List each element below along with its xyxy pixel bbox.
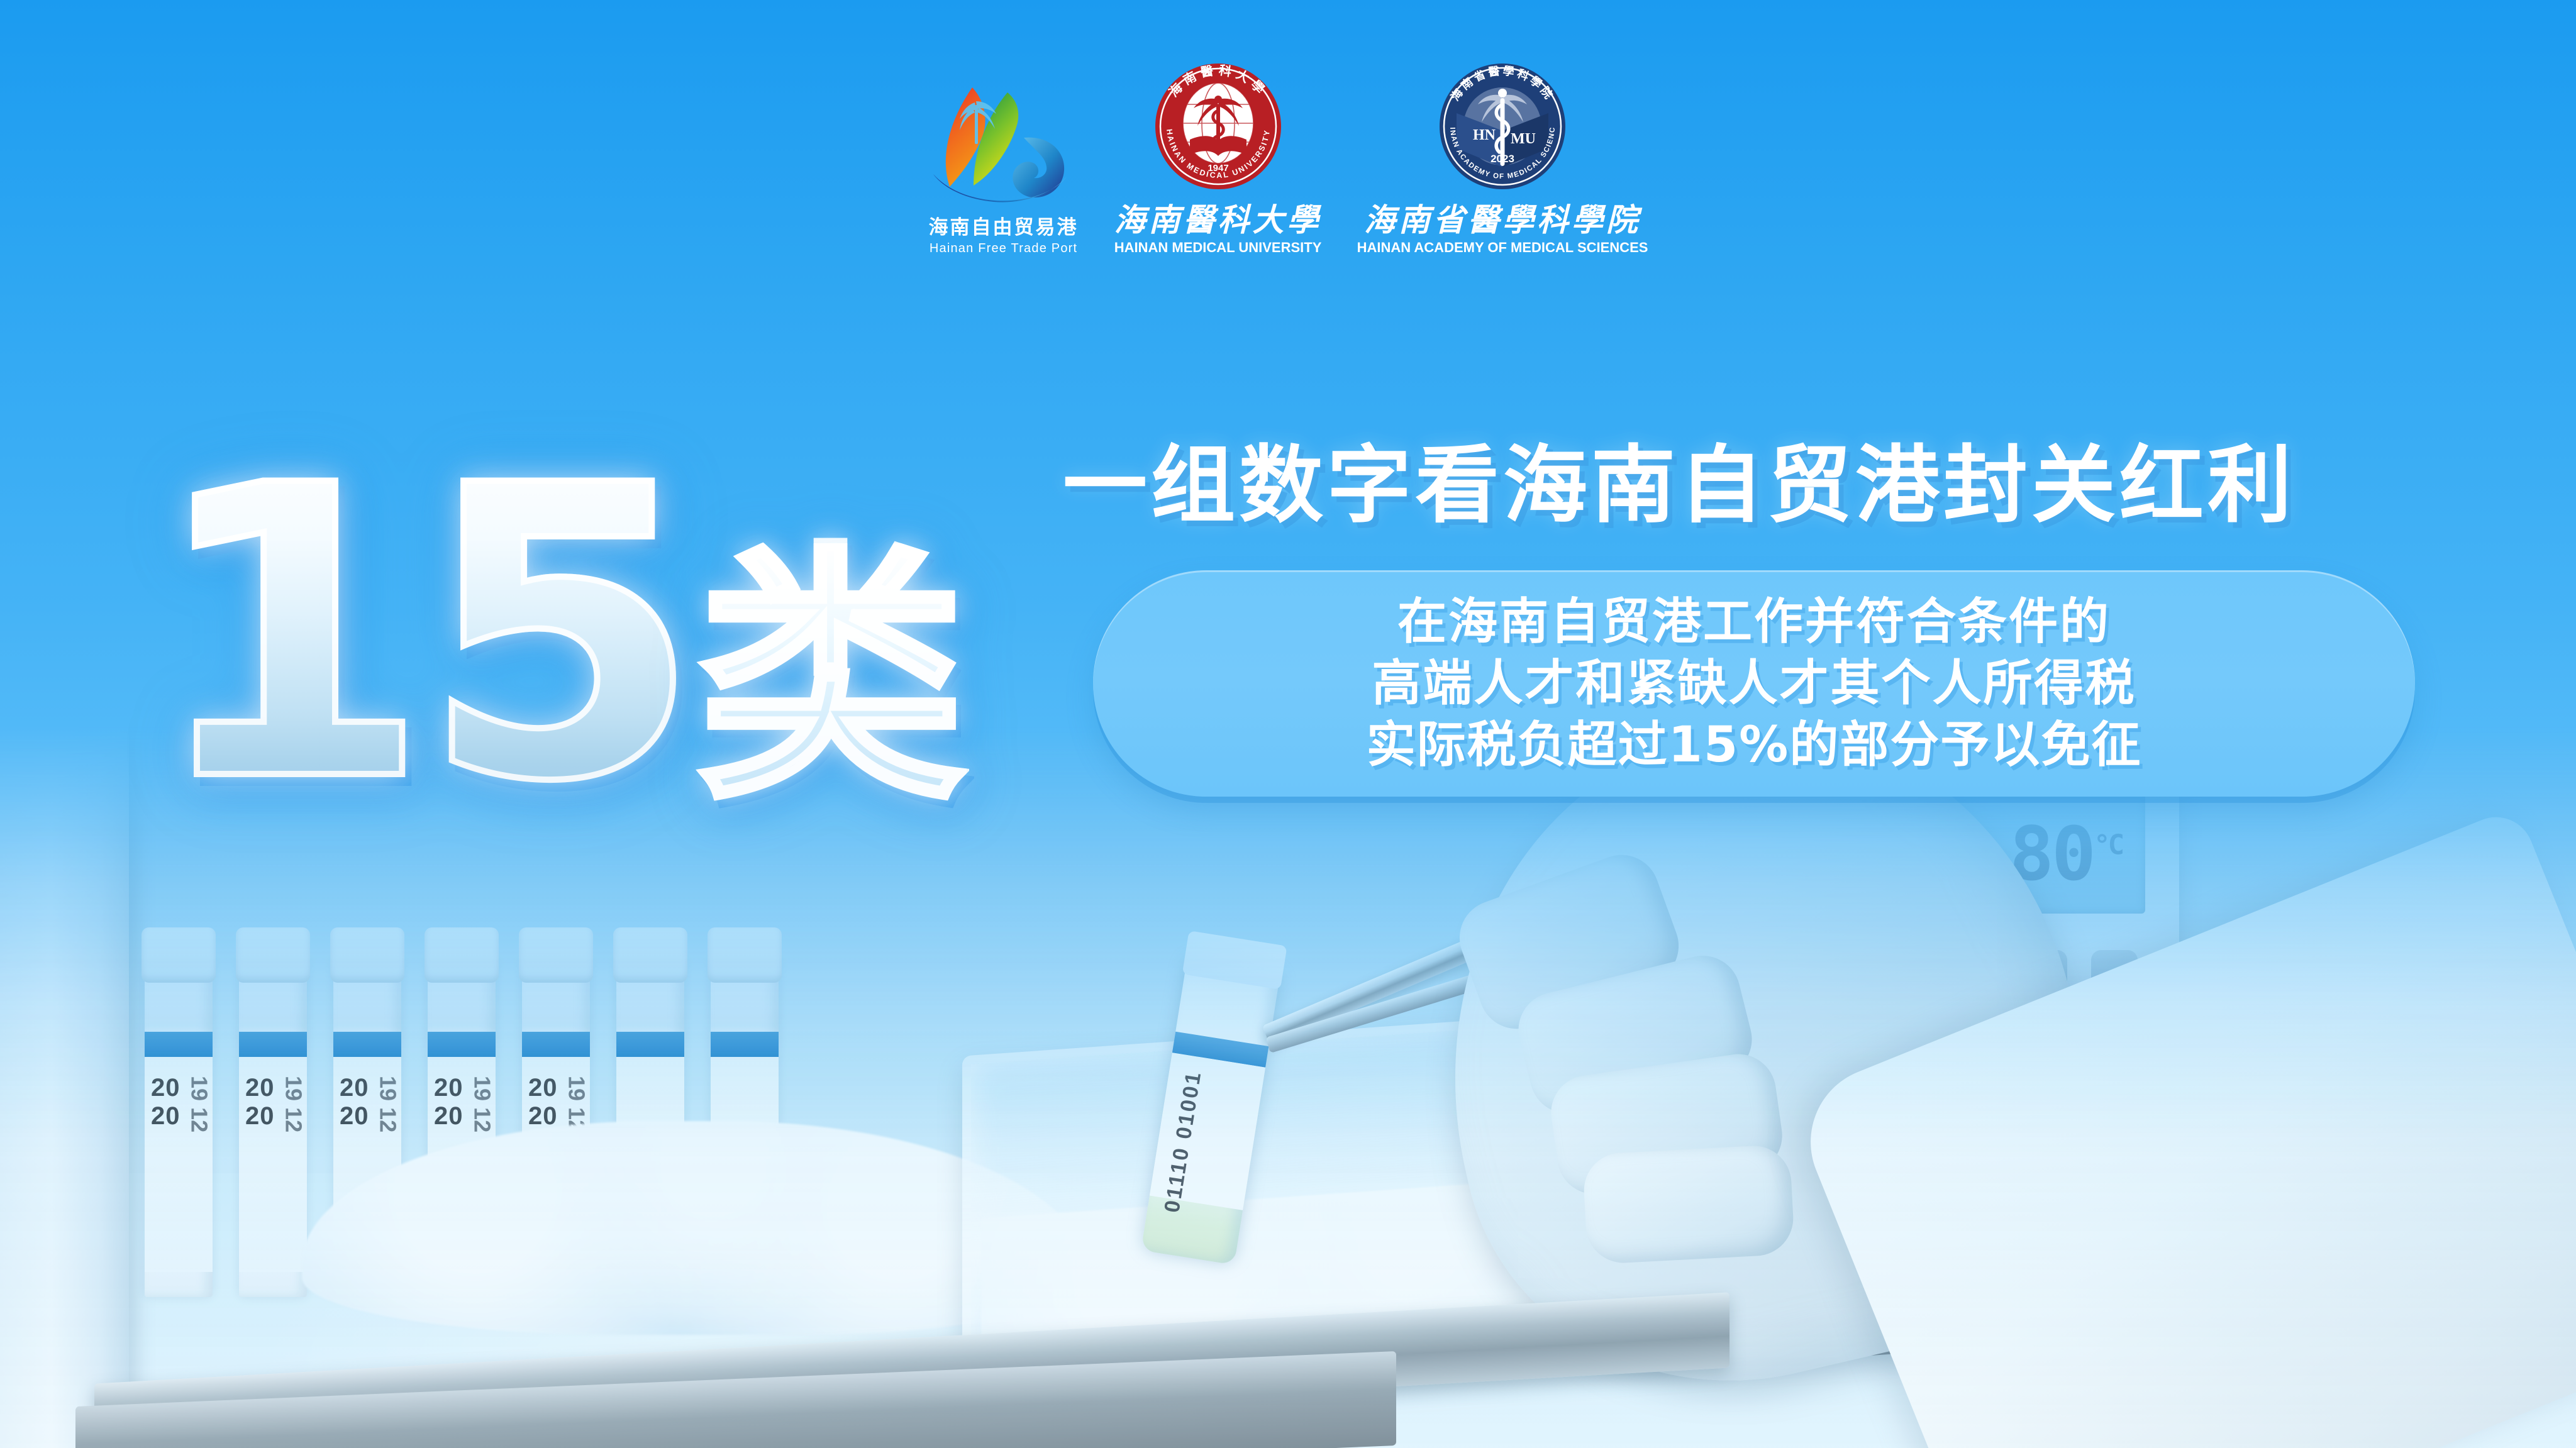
policy-line-3: 实际税负超过15%的部分予以免征 xyxy=(1367,716,2142,774)
policy-line-1: 在海南自贸港工作并符合条件的 xyxy=(1397,593,2111,651)
sail-wave-palm-icon xyxy=(928,80,1079,209)
vial-cap xyxy=(613,927,687,983)
vial-label xyxy=(145,1057,213,1272)
gloved-finger xyxy=(1546,1049,1787,1199)
temperature-unit: °C xyxy=(2094,829,2122,861)
gloved-finger xyxy=(1511,948,1760,1121)
vial-code: 2020 xyxy=(340,1074,369,1130)
lab-bench xyxy=(1758,1118,2576,1364)
vial-code-vertical: 19 12 xyxy=(469,1076,494,1132)
cryovial: 202019 12 xyxy=(428,958,496,1297)
drawer-rail-lower xyxy=(75,1351,1396,1448)
policy-bubble: 在海南自贸港工作并符合条件的 高端人才和紧缺人才其个人所得税 实际税负超过15%… xyxy=(1093,570,2415,797)
held-vial-cap xyxy=(1182,931,1287,990)
vial-code-vertical: 19 12 xyxy=(563,1076,589,1132)
cryovial xyxy=(616,958,684,1297)
freezer-control-panel: -80°C xyxy=(1915,769,2179,1071)
vial-cap xyxy=(708,927,782,983)
vial-cap xyxy=(519,927,593,983)
logo-hainan-medical-university: 1947 HAINAN MEDICAL UNIVERSITY 海南醫科大學 海南… xyxy=(1114,60,1322,255)
logo-bar: 海南自由贸易港 Hainan Free Trade Port xyxy=(0,60,2576,255)
vial-label xyxy=(239,1057,307,1272)
vial-band xyxy=(428,1032,496,1057)
vial-label xyxy=(522,1057,590,1272)
vial-cap xyxy=(236,927,310,983)
vial-label xyxy=(711,1057,779,1272)
vial-code: 2020 xyxy=(245,1074,275,1130)
svg-text:HN: HN xyxy=(1473,127,1496,143)
vial-code: 2020 xyxy=(151,1074,180,1130)
tweezers-upper-arm xyxy=(1262,844,1699,1046)
vial-code-vertical: 19 12 xyxy=(375,1076,400,1132)
cryovial: 202019 12 xyxy=(239,958,307,1297)
right-content: 一组数字看海南自贸港封关红利 在海南自贸港工作并符合条件的 高端人才和紧缺人才其… xyxy=(1063,440,2509,797)
logo-hainan-academy-of-medical-sciences: HN MU 2023 HAINAN ACADEMY OF MEDICAL SCI… xyxy=(1357,60,1648,255)
vial-band xyxy=(239,1032,307,1057)
vial-band xyxy=(333,1032,401,1057)
svg-text:2023: 2023 xyxy=(1491,153,1514,165)
vial-cap xyxy=(330,927,404,983)
temperature-value: -80°C xyxy=(1967,817,2122,891)
big-number-block: 15 类 xyxy=(150,434,967,836)
ice-tray xyxy=(962,985,1981,1408)
vial-band xyxy=(616,1032,684,1057)
held-vial-code: 01110 01001 xyxy=(1161,1069,1204,1213)
navy-circular-emblem-icon: HN MU 2023 HAINAN ACADEMY OF MEDICAL SCI… xyxy=(1436,60,1568,196)
logo-hainan-free-trade-port: 海南自由贸易港 Hainan Free Trade Port xyxy=(928,80,1079,255)
cryovial-rack: 202019 12 202019 12 202019 12 202019 12 … xyxy=(145,958,811,1297)
page-title: 一组数字看海南自贸港封关红利 xyxy=(1063,440,2509,531)
cryovial: 202019 12 xyxy=(145,958,213,1297)
drawer-rail-upper xyxy=(94,1292,1729,1448)
big-number-unit: 类 xyxy=(696,543,967,814)
logo-hams-cn: 海南省醫學科學院 xyxy=(1364,204,1641,236)
cryovial: 202019 12 xyxy=(522,958,590,1297)
svg-text:MU: MU xyxy=(1511,131,1536,147)
logo-ftp-en: Hainan Free Trade Port xyxy=(930,242,1077,255)
panel-button-3 xyxy=(2091,950,2138,990)
tweezers-lower-arm xyxy=(1265,909,1691,1053)
logo-hams-en: HAINAN ACADEMY OF MEDICAL SCIENCES xyxy=(1357,241,1648,255)
temperature-display: -80°C xyxy=(1944,794,2145,914)
vial-band xyxy=(145,1032,213,1057)
held-vial-band xyxy=(1172,1032,1269,1068)
big-number-value: 15 xyxy=(150,434,692,836)
vial-cap xyxy=(425,927,499,983)
panel-button-1 xyxy=(1950,950,1997,990)
logo-ftp-cn: 海南自由贸易港 xyxy=(929,218,1079,237)
poster-root: -80°C 202019 12 202019 12 202019 12 2020… xyxy=(0,0,2576,1448)
freezer-door xyxy=(0,725,129,1448)
vial-band xyxy=(711,1032,779,1057)
cryovial: 202019 12 xyxy=(333,958,401,1297)
panel-button-row xyxy=(1950,950,2138,990)
gloved-finger xyxy=(1582,1144,1796,1264)
vial-cap xyxy=(142,927,216,983)
vial-code-vertical: 19 12 xyxy=(186,1076,211,1132)
lab-coat-sleeve xyxy=(1788,806,2576,1448)
cryovial xyxy=(711,958,779,1297)
held-cryovial: 01110 01001 xyxy=(1141,958,1280,1265)
vial-label xyxy=(428,1057,496,1272)
vial-band xyxy=(522,1032,590,1057)
vial-code: 2020 xyxy=(528,1074,558,1130)
policy-line-2: 高端人才和紧缺人才其个人所得税 xyxy=(1372,655,2136,712)
vial-code: 2020 xyxy=(434,1074,464,1130)
vial-label xyxy=(616,1057,684,1272)
gloved-finger xyxy=(1449,844,1689,1039)
panel-button-2 xyxy=(2021,950,2067,990)
vial-code-vertical: 19 12 xyxy=(280,1076,306,1132)
red-circular-emblem-icon: 1947 HAINAN MEDICAL UNIVERSITY 海南醫科大學 xyxy=(1152,60,1284,196)
logo-hmu-cn: 海南醫科大學 xyxy=(1114,204,1322,236)
vial-label xyxy=(333,1057,401,1272)
logo-hmu-en: HAINAN MEDICAL UNIVERSITY xyxy=(1114,241,1322,255)
held-vial-label xyxy=(1150,1053,1265,1210)
tray-ice xyxy=(981,1149,1962,1407)
ice-pile-left xyxy=(302,1121,1088,1335)
